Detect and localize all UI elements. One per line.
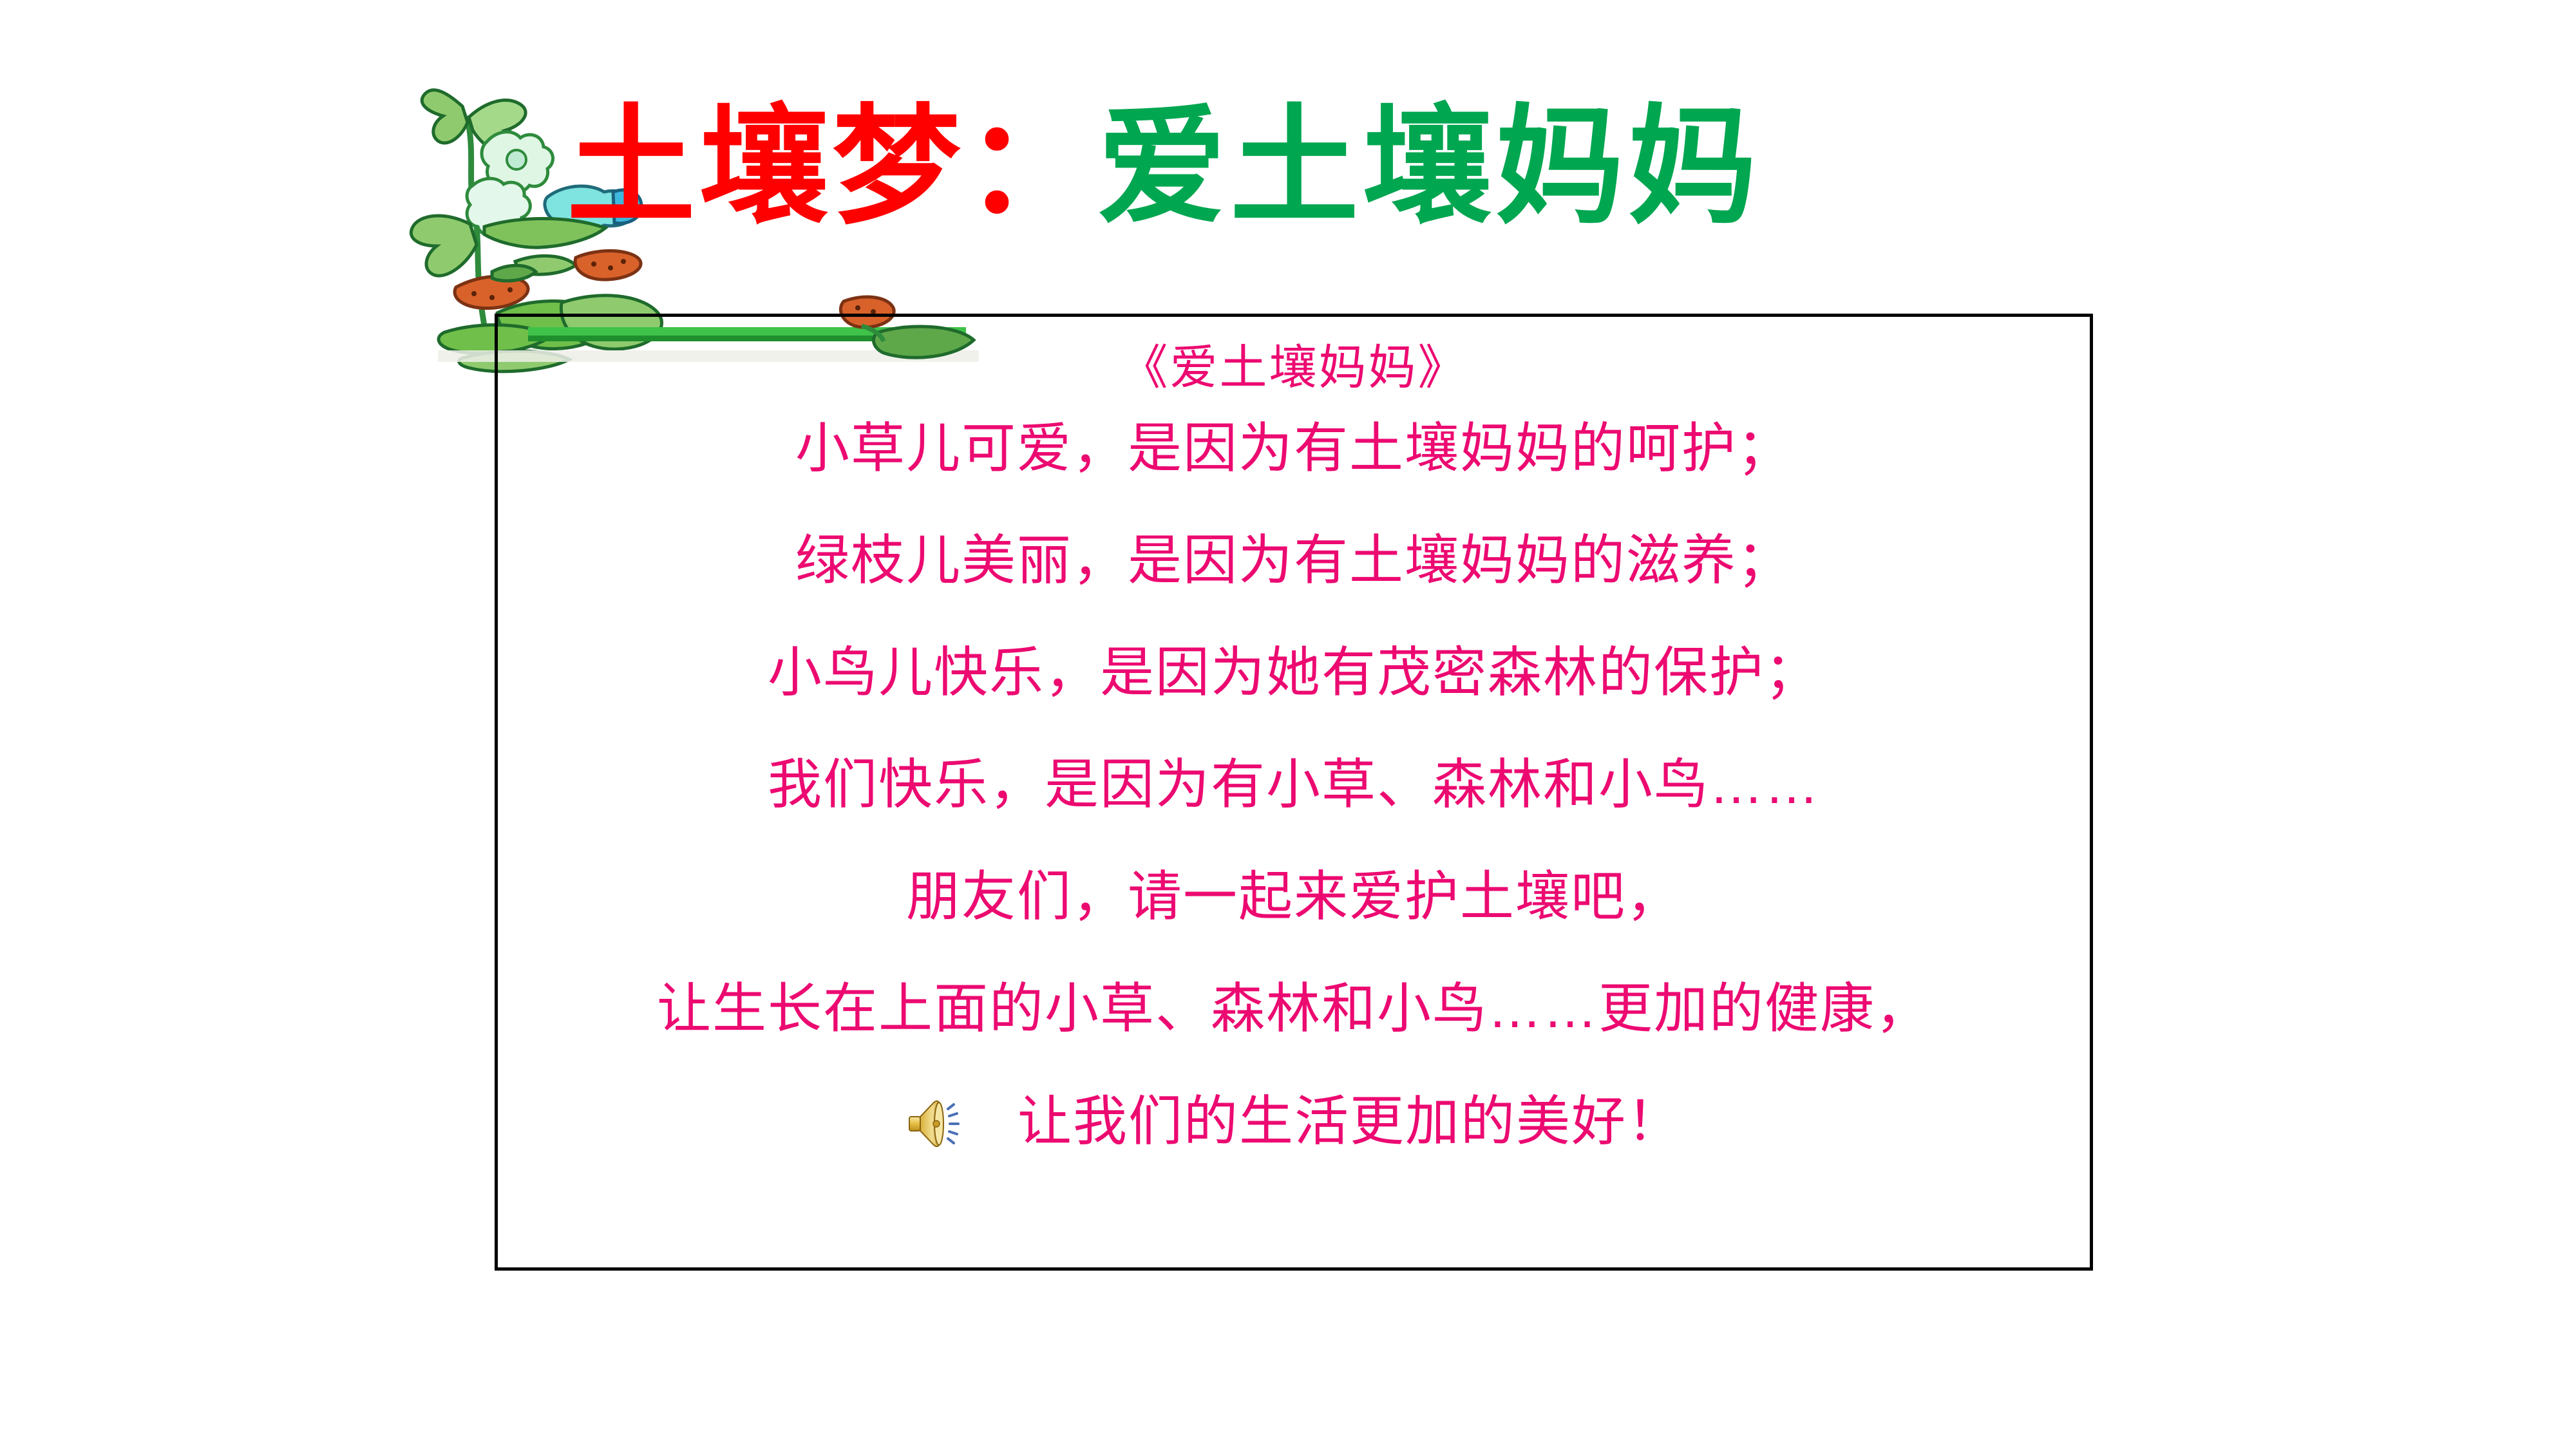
poem-line: 绿枝儿美丽，是因为有土壤妈妈的滋养； <box>795 533 1792 587</box>
title-part-red: 土壤梦： <box>567 92 1097 242</box>
poem-inner-wrapper: 《爱土壤妈妈》 小草儿可爱，是因为有土壤妈妈的呵护； 绿枝儿美丽，是因为有土壤妈… <box>498 317 2090 1267</box>
poem-line-text: 朋友们，请一起来爱护土壤吧， <box>906 869 1681 923</box>
poem-line: 朋友们，请一起来爱护土壤吧， <box>906 869 1681 923</box>
poem-line-text: 绿枝儿美丽，是因为有土壤妈妈的滋养； <box>795 533 1792 587</box>
poem-content-box: 《爱土壤妈妈》 小草儿可爱，是因为有土壤妈妈的呵护； 绿枝儿美丽，是因为有土壤妈… <box>495 314 2093 1271</box>
poem-heading: 《爱土壤妈妈》 <box>1121 344 1468 392</box>
poem-line: 让生长在上面的小草、森林和小鸟……更加的健康， <box>657 981 1931 1036</box>
speaker-sound-icon[interactable] <box>905 1096 970 1151</box>
poem-line-text: 小鸟儿快乐，是因为她有茂密森林的保护； <box>768 645 1820 699</box>
page-title: 土壤梦：爱土壤妈妈 <box>567 100 1761 235</box>
poem-line-with-audio: 让我们的生活更加的美好！ <box>905 1094 1682 1149</box>
poem-line-text: 小草儿可爱，是因为有土壤妈妈的呵护； <box>795 421 1792 475</box>
title-part-green: 爱土壤妈妈 <box>1097 92 1761 242</box>
poem-line-text: 让我们的生活更加的美好！ <box>1018 1094 1682 1148</box>
poem-line-text: 我们快乐，是因为有小草、森林和小鸟…… <box>768 757 1820 811</box>
poem-line: 我们快乐，是因为有小草、森林和小鸟…… <box>768 757 1820 811</box>
poem-line-text: 让生长在上面的小草、森林和小鸟……更加的健康， <box>657 981 1931 1036</box>
poem-line: 小鸟儿快乐，是因为她有茂密森林的保护； <box>768 645 1820 699</box>
slide-canvas: 土壤梦：爱土壤妈妈 《爱土壤妈妈》 小草儿可爱，是因为有土壤妈妈的呵护； 绿枝儿… <box>0 0 2576 1449</box>
poem-line: 小草儿可爱，是因为有土壤妈妈的呵护； <box>795 421 1792 475</box>
